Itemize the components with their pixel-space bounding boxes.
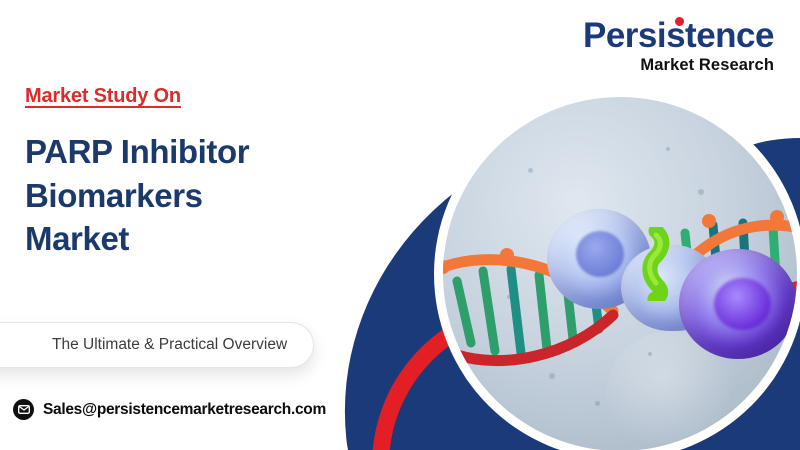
- logo-red-dot-icon: [675, 17, 684, 26]
- cell-right-purple: [679, 249, 797, 359]
- speck: [595, 401, 600, 406]
- contact-email-row[interactable]: Sales@persistencemarketresearch.com: [13, 399, 326, 420]
- headline-line-1: PARP Inhibitor: [25, 130, 249, 174]
- overview-pill-button[interactable]: The Ultimate & Practical Overview: [0, 322, 314, 368]
- envelope-glyph: [18, 405, 30, 414]
- headline-line-3: Market: [25, 217, 249, 261]
- contact-email-text: Sales@persistencemarketresearch.com: [43, 401, 326, 419]
- content-block: Market Study On PARP Inhibitor Biomarker…: [25, 0, 425, 450]
- cell-nucleus: [714, 278, 771, 331]
- eyebrow-label: Market Study On: [25, 85, 181, 108]
- marketing-banner: Persistence Market Research Market Study…: [0, 0, 800, 450]
- cell-nucleus: [576, 231, 624, 277]
- speck: [528, 168, 533, 173]
- brand-logo-tagline: Market Research: [583, 57, 774, 74]
- green-molecule-icon: [639, 227, 673, 301]
- science-image-circle: [434, 88, 800, 450]
- headline-line-2: Biomarkers: [25, 174, 249, 218]
- page-title: PARP Inhibitor Biomarkers Market: [25, 130, 249, 261]
- speck: [666, 147, 670, 151]
- dna-cell-illustration: [443, 97, 797, 450]
- brand-logo: Persistence Market Research: [583, 18, 774, 74]
- envelope-icon: [13, 399, 34, 420]
